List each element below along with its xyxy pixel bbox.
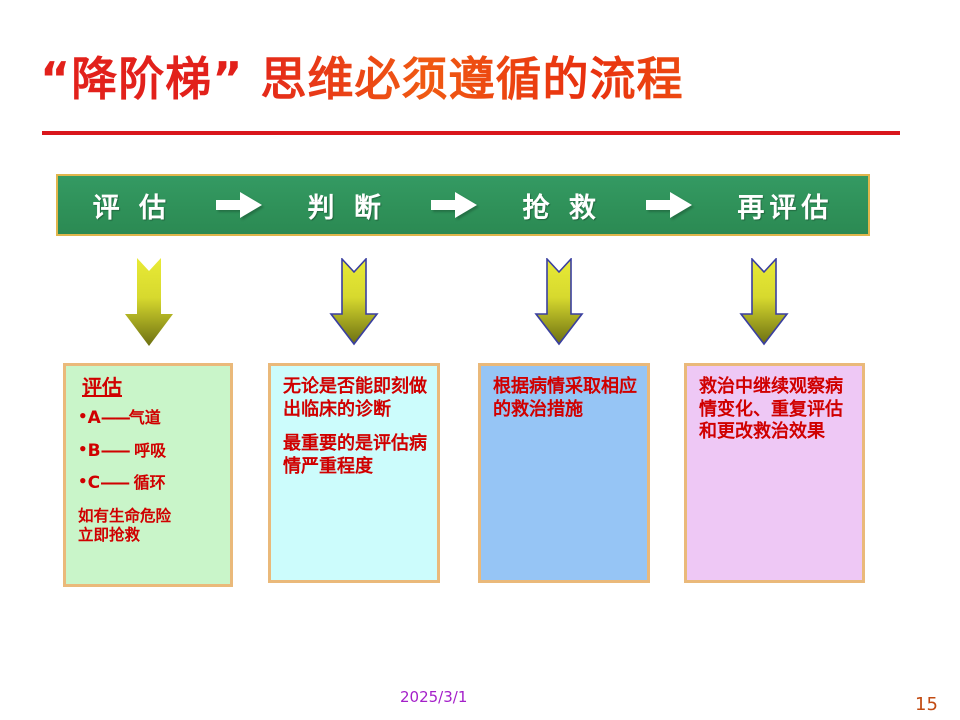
arrow-right-icon bbox=[646, 192, 692, 218]
box-paragraph-1: 救治中继续观察病情变化、重复评估和更改救治效果 bbox=[699, 376, 854, 444]
banner-step-1: 评 估 bbox=[93, 186, 171, 225]
bullet-item-a: •A——气道 bbox=[78, 408, 222, 428]
bullet-dash: —— bbox=[101, 408, 129, 427]
box-paragraph-2: 最重要的是评估病情严重程度 bbox=[283, 433, 429, 478]
arrow-down-icon bbox=[738, 258, 790, 346]
slide-date: 2025/3/1 bbox=[400, 688, 467, 706]
arrow-down-icon bbox=[123, 258, 175, 346]
slide-canvas: “降阶梯” 思维必须遵循的流程 评 估 判 断 抢 救 再评估 bbox=[0, 0, 960, 720]
page-title: “降阶梯” 思维必须遵循的流程 bbox=[40, 48, 920, 110]
bullet-item-c: •C—— 循环 bbox=[78, 473, 222, 493]
bullet-letter: B bbox=[88, 441, 101, 461]
arrow-right-icon bbox=[216, 192, 262, 218]
bullet-dash: —— bbox=[100, 473, 128, 492]
bullet-marker: • bbox=[78, 472, 88, 490]
bullet-marker: • bbox=[78, 407, 88, 425]
bullet-item-b: •B—— 呼吸 bbox=[78, 441, 222, 461]
box-paragraph-1: 根据病情采取相应的救治措施 bbox=[493, 376, 639, 421]
box-note-line-2: 立即抢救 bbox=[78, 525, 222, 544]
arrow-right-icon bbox=[431, 192, 477, 218]
bullet-label: 呼吸 bbox=[134, 441, 166, 460]
banner-step-2: 判 断 bbox=[308, 186, 386, 225]
box-note-line-1: 如有生命危险 bbox=[78, 506, 222, 525]
arrow-down-icon bbox=[328, 258, 380, 346]
slide-page-number: 15 bbox=[915, 694, 938, 715]
bullet-marker: • bbox=[78, 440, 88, 458]
content-box-assessment: 评估 •A——气道 •B—— 呼吸 •C—— 循环 如有生命危险 立即抢救 bbox=[63, 363, 233, 587]
banner-step-4: 再评估 bbox=[737, 186, 833, 225]
box-heading: 评估 bbox=[82, 376, 222, 398]
process-banner: 评 估 判 断 抢 救 再评估 bbox=[56, 174, 870, 236]
arrow-down-icon bbox=[533, 258, 585, 346]
banner-step-3: 抢 救 bbox=[522, 186, 600, 225]
bullet-label: 气道 bbox=[129, 408, 161, 427]
content-box-judgement: 无论是否能即刻做出临床的诊断 最重要的是评估病情严重程度 bbox=[268, 363, 440, 583]
box-paragraph-1: 无论是否能即刻做出临床的诊断 bbox=[283, 376, 429, 421]
title-divider bbox=[42, 131, 900, 135]
content-box-reassessment: 救治中继续观察病情变化、重复评估和更改救治效果 bbox=[684, 363, 865, 583]
content-box-rescue: 根据病情采取相应的救治措施 bbox=[478, 363, 650, 583]
bullet-letter: C bbox=[88, 473, 100, 493]
bullet-label: 循环 bbox=[134, 473, 166, 492]
bullet-letter: A bbox=[88, 408, 101, 428]
bullet-dash: —— bbox=[101, 441, 129, 460]
